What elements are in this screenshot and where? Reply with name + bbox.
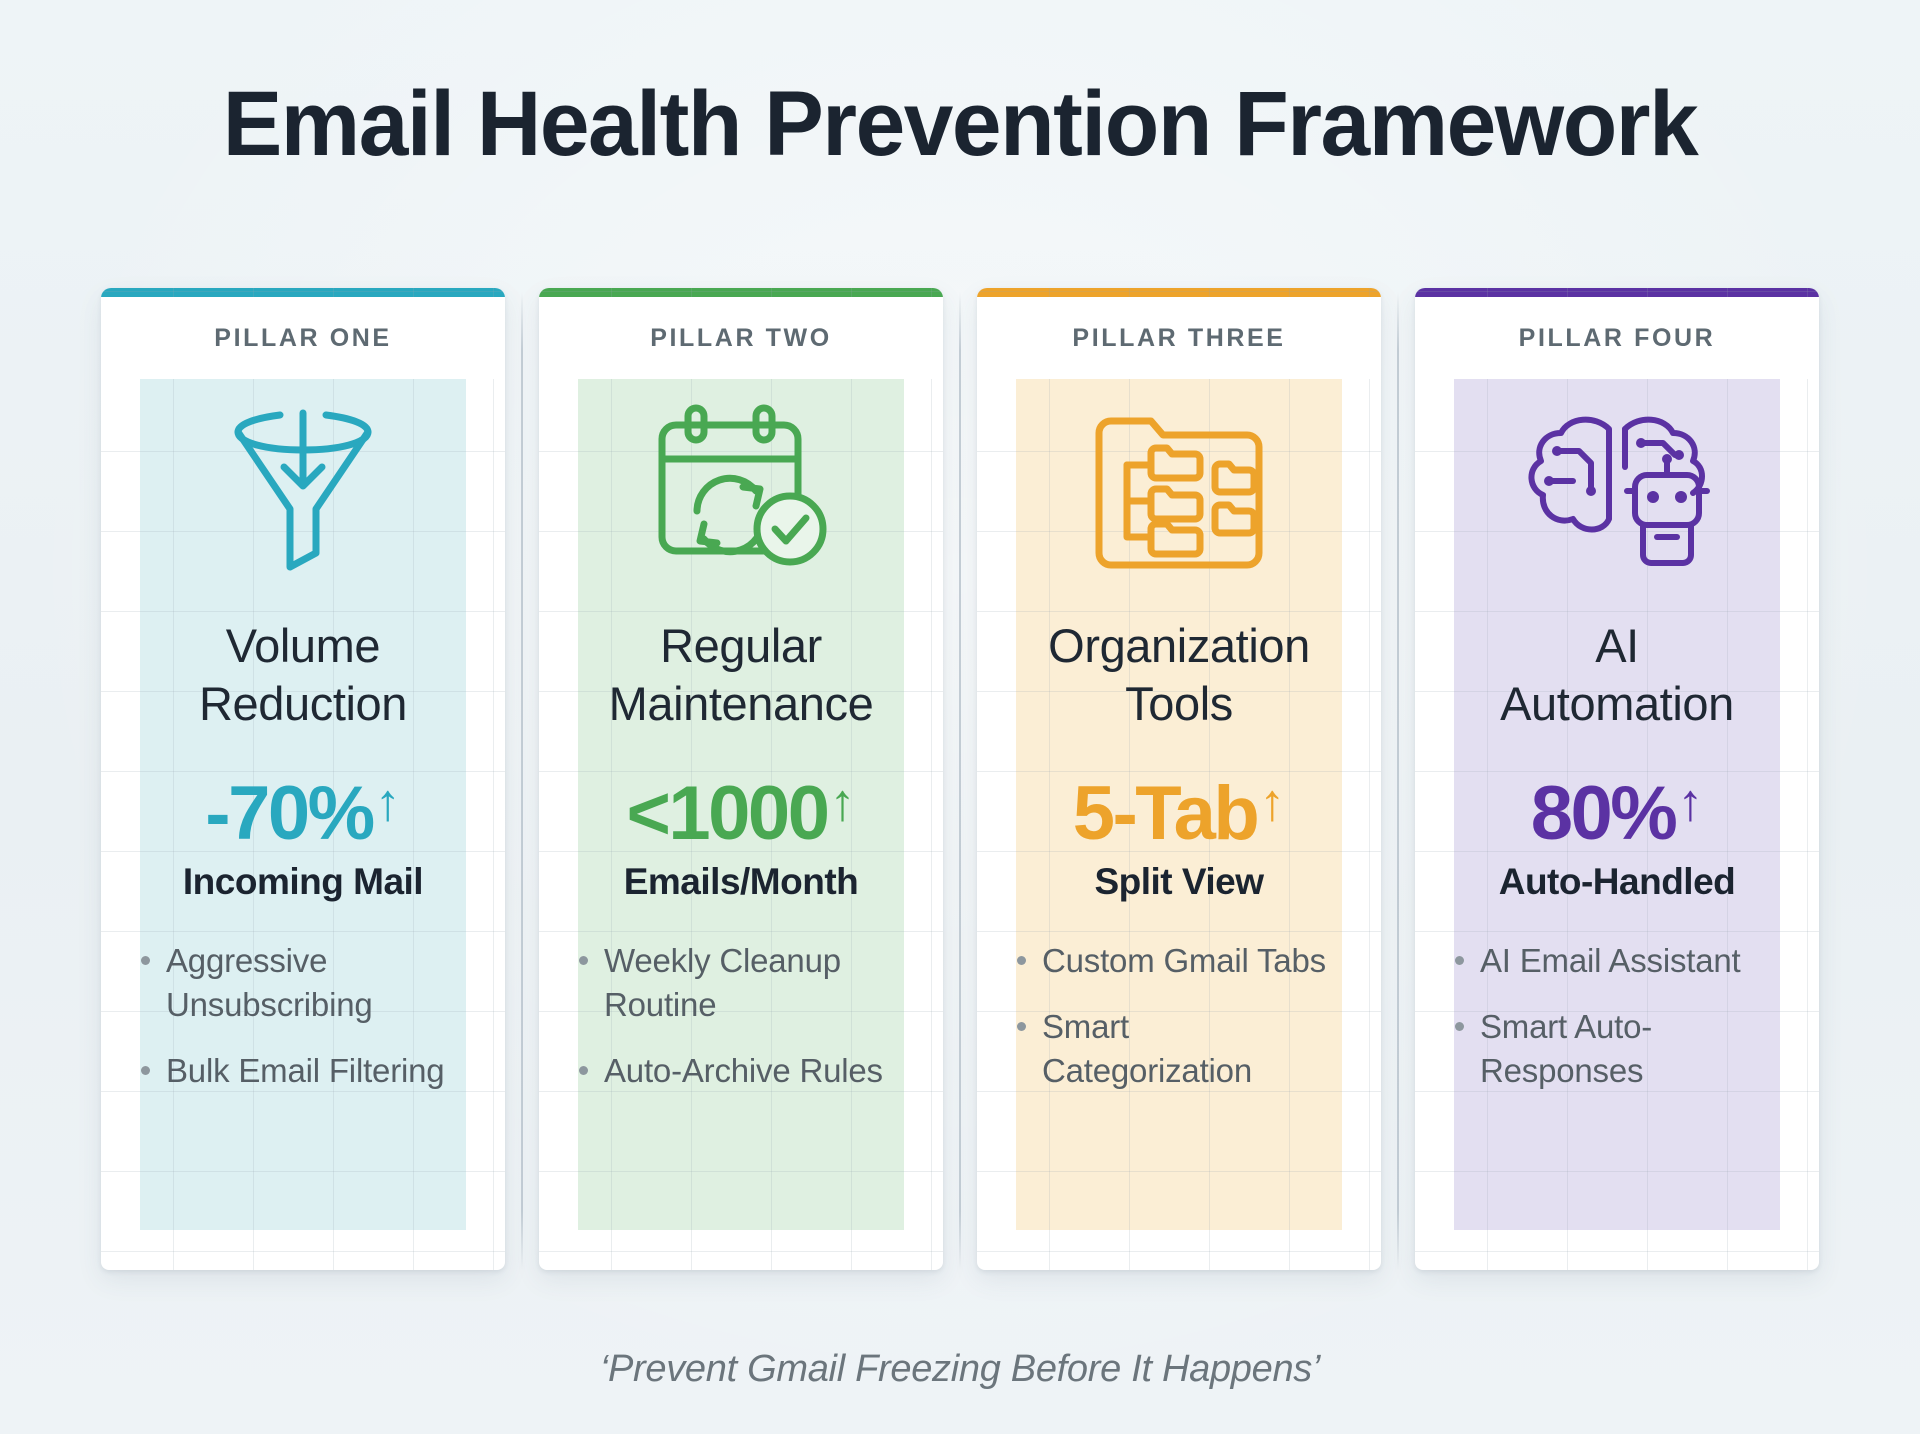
list-item-label: Custom Gmail Tabs xyxy=(1042,939,1326,983)
ai-brain-robot-icon xyxy=(1455,379,1779,601)
list-item: AI Email Assistant xyxy=(1455,939,1779,983)
pillar-heading: VolumeReduction xyxy=(141,601,465,749)
list-item: Weekly Cleanup Routine xyxy=(579,939,903,1027)
pillar-column-one: PILLAR ONE VolumeReduction xyxy=(84,288,522,1274)
pillars-board: PILLAR ONE VolumeReduction xyxy=(84,288,1836,1274)
pillar-heading: AIAutomation xyxy=(1455,601,1779,749)
trend-up-icon: ↑ xyxy=(375,772,401,834)
stat-value: 5-Tab xyxy=(1073,772,1258,856)
page-title: Email Health Prevention Framework xyxy=(29,72,1891,177)
accent-bar xyxy=(1415,288,1819,297)
list-item-label: AI Email Assistant xyxy=(1480,939,1741,983)
folder-tree-icon xyxy=(1017,379,1341,601)
footer-caption: ‘Prevent Gmail Freezing Before It Happen… xyxy=(0,1348,1920,1391)
list-item-label: Auto-Archive Rules xyxy=(604,1049,883,1093)
bullet-list: Custom Gmail Tabs Smart Categorization xyxy=(1017,927,1341,1270)
stat-value: <1000 xyxy=(627,772,828,856)
list-item-label: Smart Auto-Responses xyxy=(1480,1005,1779,1093)
stat-block: -70% ↑ Incoming Mail xyxy=(141,749,465,927)
stat-value: 80% xyxy=(1531,772,1676,856)
accent-bar xyxy=(101,288,505,297)
pillar-kicker: PILLAR FOUR xyxy=(1415,297,1819,379)
bullet-list: Weekly Cleanup Routine Auto-Archive Rule… xyxy=(579,927,903,1270)
pillar-column-two: PILLAR TWO xyxy=(522,288,960,1274)
pillar-body: RegularMaintenance <1000 ↑ Emails/Month … xyxy=(539,379,943,1270)
list-item: Smart Categorization xyxy=(1017,1005,1341,1093)
list-item-label: Smart Categorization xyxy=(1042,1005,1341,1093)
pillar-kicker: PILLAR THREE xyxy=(977,297,1381,379)
stat-label: Auto-Handled xyxy=(1499,860,1736,904)
pillar-body: OrganizationTools 5-Tab ↑ Split View Cus… xyxy=(977,379,1381,1270)
accent-bar xyxy=(539,288,943,297)
pillar-kicker: PILLAR ONE xyxy=(101,297,505,379)
bullet-dot-icon xyxy=(1017,1022,1026,1031)
pillar-heading: RegularMaintenance xyxy=(579,601,903,749)
stat-block: 5-Tab ↑ Split View xyxy=(1017,749,1341,927)
bullet-dot-icon xyxy=(579,956,588,965)
funnel-icon xyxy=(141,379,465,601)
list-item: Smart Auto-Responses xyxy=(1455,1005,1779,1093)
pillar-column-four: PILLAR FOUR xyxy=(1398,288,1836,1274)
stat-label: Emails/Month xyxy=(624,860,859,904)
pillar-body: VolumeReduction -70% ↑ Incoming Mail Agg… xyxy=(101,379,505,1270)
stat-block: 80% ↑ Auto-Handled xyxy=(1455,749,1779,927)
accent-bar xyxy=(977,288,1381,297)
trend-up-icon: ↑ xyxy=(829,772,855,834)
heading-line-2: Maintenance xyxy=(609,677,874,730)
heading-line-2: Reduction xyxy=(199,677,407,730)
pillar-heading: OrganizationTools xyxy=(1017,601,1341,749)
heading-line-2: Tools xyxy=(1125,677,1233,730)
heading-line-1: Organization xyxy=(1048,619,1310,672)
list-item: Custom Gmail Tabs xyxy=(1017,939,1341,983)
heading-line-1: Regular xyxy=(660,619,822,672)
pillar-card-four[interactable]: PILLAR FOUR xyxy=(1415,288,1819,1270)
bullet-dot-icon xyxy=(1017,956,1026,965)
calendar-refresh-icon xyxy=(579,379,903,601)
list-item-label: Bulk Email Filtering xyxy=(166,1049,444,1093)
bullet-dot-icon xyxy=(141,1066,150,1075)
list-item: Auto-Archive Rules xyxy=(579,1049,903,1093)
list-item-label: Aggressive Unsubscribing xyxy=(166,939,465,1027)
heading-line-1: Volume xyxy=(226,619,380,672)
bullet-list: Aggressive Unsubscribing Bulk Email Filt… xyxy=(141,927,465,1270)
bullet-dot-icon xyxy=(1455,956,1464,965)
bullet-list: AI Email Assistant Smart Auto-Responses xyxy=(1455,927,1779,1270)
trend-up-icon: ↑ xyxy=(1259,772,1285,834)
trend-up-icon: ↑ xyxy=(1677,772,1703,834)
pillar-card-two[interactable]: PILLAR TWO xyxy=(539,288,943,1270)
bullet-dot-icon xyxy=(1455,1022,1464,1031)
stat-block: <1000 ↑ Emails/Month xyxy=(579,749,903,927)
stat-label: Incoming Mail xyxy=(183,860,423,904)
stat-label: Split View xyxy=(1094,860,1263,904)
bullet-dot-icon xyxy=(141,956,150,965)
heading-line-2: Automation xyxy=(1500,677,1734,730)
heading-line-1: AI xyxy=(1595,619,1639,672)
pillar-body: AIAutomation 80% ↑ Auto-Handled AI Email… xyxy=(1415,379,1819,1270)
pillar-column-three: PILLAR THREE Orga xyxy=(960,288,1398,1274)
pillar-card-three[interactable]: PILLAR THREE Orga xyxy=(977,288,1381,1270)
list-item: Bulk Email Filtering xyxy=(141,1049,465,1093)
bullet-dot-icon xyxy=(579,1066,588,1075)
list-item-label: Weekly Cleanup Routine xyxy=(604,939,903,1027)
stat-value: -70% xyxy=(205,772,372,856)
pillar-kicker: PILLAR TWO xyxy=(539,297,943,379)
pillar-card-one[interactable]: PILLAR ONE VolumeReduction xyxy=(101,288,505,1270)
list-item: Aggressive Unsubscribing xyxy=(141,939,465,1027)
